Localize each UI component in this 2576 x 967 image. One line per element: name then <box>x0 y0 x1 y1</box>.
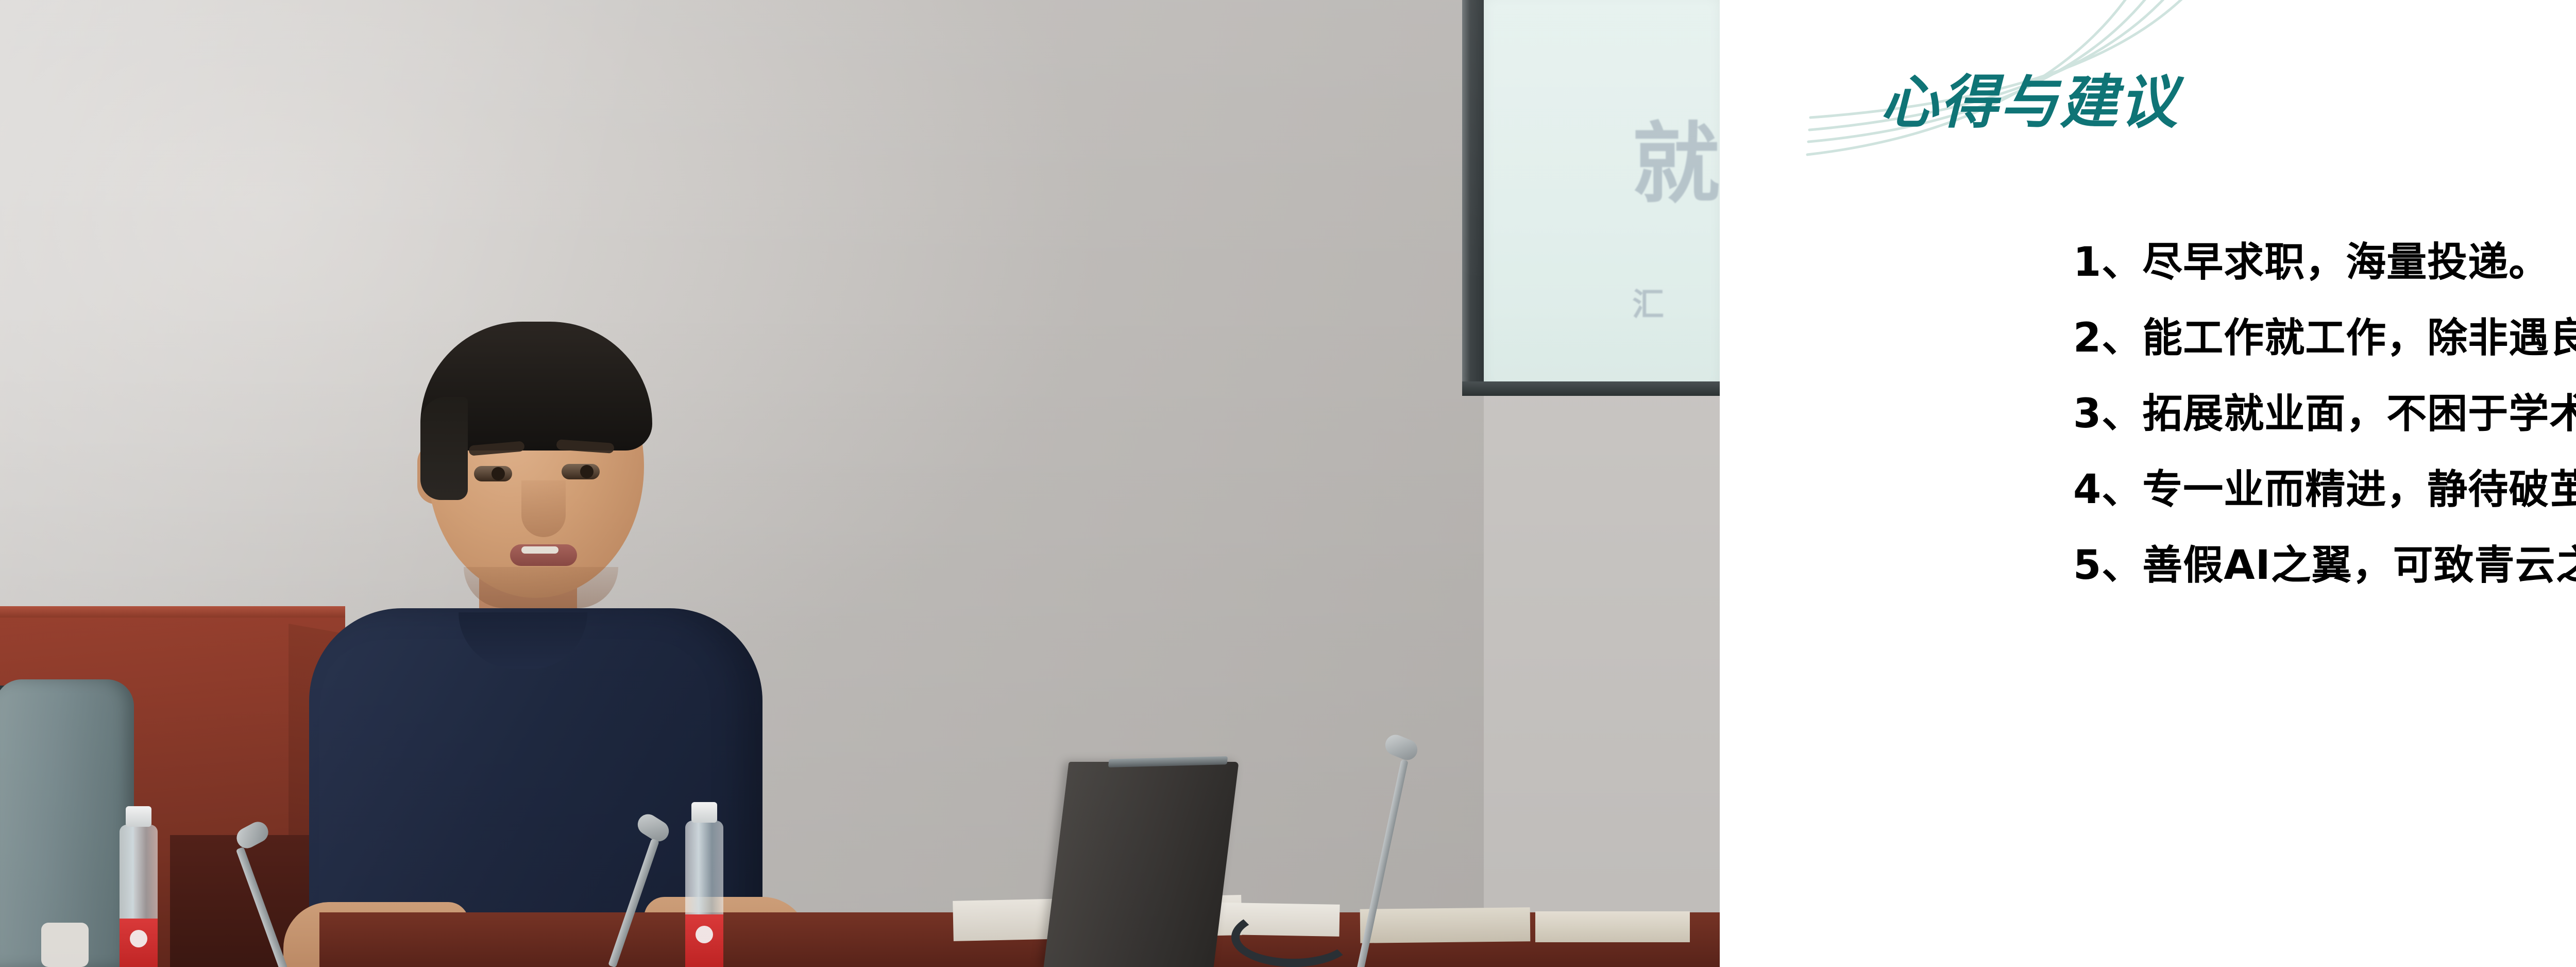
speaker-eye-right <box>562 464 600 479</box>
projection-screen-title-text: 就 <box>1632 93 1720 220</box>
bottle-cap <box>126 806 151 827</box>
content-panel: 心得与建议 1、 尽早求职，海量投递。 2、 能工作就工作，除非遇良机。 3、 … <box>1720 0 2576 967</box>
speaker-nose <box>521 480 566 537</box>
book-on-table-secondary <box>1535 911 1690 942</box>
bottle-label <box>120 919 158 967</box>
list-item-text: 能工作就工作，除非遇良机。 <box>2142 318 2576 358</box>
list-item: 3、 拓展就业面，不困于学术圈。 <box>2073 394 2576 434</box>
list-item-number: 5、 <box>2073 545 2142 586</box>
speaker-mouth <box>510 544 577 566</box>
bottle-cap <box>691 802 717 823</box>
water-bottle <box>120 825 158 967</box>
coiled-cable <box>1231 907 1355 967</box>
list-item-number: 1、 <box>2073 242 2142 282</box>
water-bottle <box>685 821 723 967</box>
list-item: 4、 专一业而精进，静待破茧成蝶时。 <box>2073 470 2576 510</box>
list-item-text: 尽早求职，海量投递。 <box>2142 242 2549 282</box>
list-item-number: 3、 <box>2073 394 2142 434</box>
speaker-chin-shadow <box>464 567 618 608</box>
laptop <box>1043 762 1239 967</box>
speaker-figure <box>289 289 907 967</box>
speaker-photo: 就 汇 <box>0 0 1720 967</box>
slide-root: 就 汇 <box>0 0 2576 967</box>
advice-list: 1、 尽早求职，海量投递。 2、 能工作就工作，除非遇良机。 3、 拓展就业面，… <box>2073 242 2576 621</box>
list-item: 5、 善假AI之翼，可致青云之功。 <box>2073 545 2576 586</box>
list-item: 2、 能工作就工作，除非遇良机。 <box>2073 318 2576 358</box>
speaker-eye-left <box>474 466 512 481</box>
projection-screen-subtitle-text: 汇 <box>1632 278 1665 325</box>
pupil-left <box>492 467 505 480</box>
chair-backrest-cutout <box>41 923 89 967</box>
projection-screen-bottom-bar <box>1462 381 1720 396</box>
list-item-number: 2、 <box>2073 318 2142 358</box>
list-item-text: 拓展就业面，不困于学术圈。 <box>2142 394 2576 434</box>
book-on-table <box>1360 907 1531 943</box>
list-item-text: 专一业而精进，静待破茧成蝶时。 <box>2142 470 2576 510</box>
page-title: 心得与建议 <box>1880 56 2179 139</box>
list-item-text: 善假AI之翼，可致青云之功。 <box>2142 545 2576 586</box>
speaker-sideburn <box>420 397 468 500</box>
list-item: 1、 尽早求职，海量投递。 <box>2073 242 2576 282</box>
bottle-label <box>685 914 723 967</box>
pupil-right <box>580 465 594 478</box>
list-item-number: 4、 <box>2073 470 2142 510</box>
projection-screen-frame <box>1462 0 1485 392</box>
